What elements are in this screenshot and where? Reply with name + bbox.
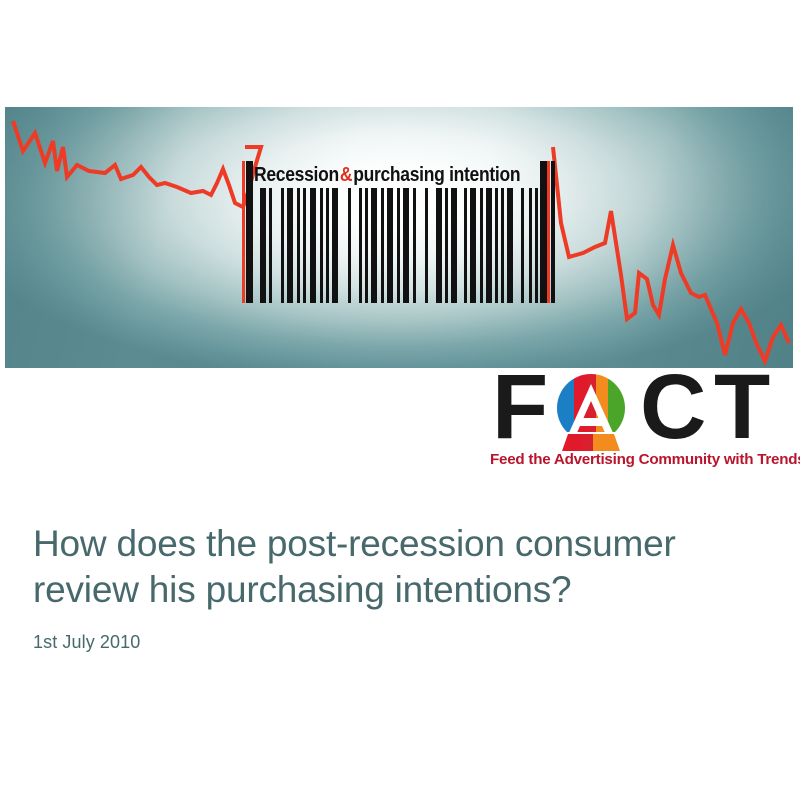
barcode-bar [425,188,428,303]
barcode-bar [326,188,329,303]
barcode-bar [387,188,393,303]
barcode-bar [470,188,476,303]
recession-banner: Recession & purchasing intention [5,107,793,368]
barcode-graphic: Recession & purchasing intention [240,161,558,303]
barcode-bar [397,188,400,303]
barcode-bar [310,188,316,303]
barcode-bar [320,188,323,303]
barcode-bar [501,188,504,303]
barcode-bar [348,188,351,303]
barcode-caption-ampersand: & [339,162,353,186]
barcode-bar [413,188,416,303]
page-title: How does the post-recession consumer rev… [33,521,763,613]
logo-letter-a-icon [548,372,634,452]
barcode-bar [480,188,483,303]
barcode-caption: Recession & purchasing intention [254,159,546,189]
barcode-bar [281,188,284,303]
barcode-bar [303,188,306,303]
trendline-left [13,121,261,207]
barcode-bar [332,188,338,303]
fact-wordmark: F C T [492,371,792,451]
barcode-bar [371,188,377,303]
barcode-bar [365,188,368,303]
barcode-bar [269,188,272,303]
barcode-bar [260,188,266,303]
barcode-bar [445,188,448,303]
barcode-bar [451,188,457,303]
barcode-bar [495,188,498,303]
logo-tagline: Feed the Advertising Community with Tren… [490,451,794,468]
page-date: 1st July 2010 [33,631,763,653]
barcode-bar [507,188,513,303]
barcode-bar [297,188,300,303]
barcode-bar [521,188,524,303]
barcode-bar [486,188,492,303]
barcode-bar [535,188,538,303]
barcode-bar [436,188,442,303]
logo-letter-f: F [492,367,546,447]
barcode-bar [464,188,467,303]
barcode-bars [240,188,558,303]
trendline-right [553,147,789,361]
barcode-bar [381,188,384,303]
logo-letter-c: C [640,367,704,447]
barcode-bar [287,188,293,303]
barcode-bar [529,188,532,303]
logo-letter-t: T [714,367,768,447]
barcode-caption-suffix: purchasing intention [353,162,520,186]
barcode-bar [403,188,409,303]
barcode-caption-prefix: Recession [254,162,339,186]
title-block: How does the post-recession consumer rev… [33,521,763,653]
fact-logo: F C T [492,371,792,475]
barcode-bar [359,188,362,303]
